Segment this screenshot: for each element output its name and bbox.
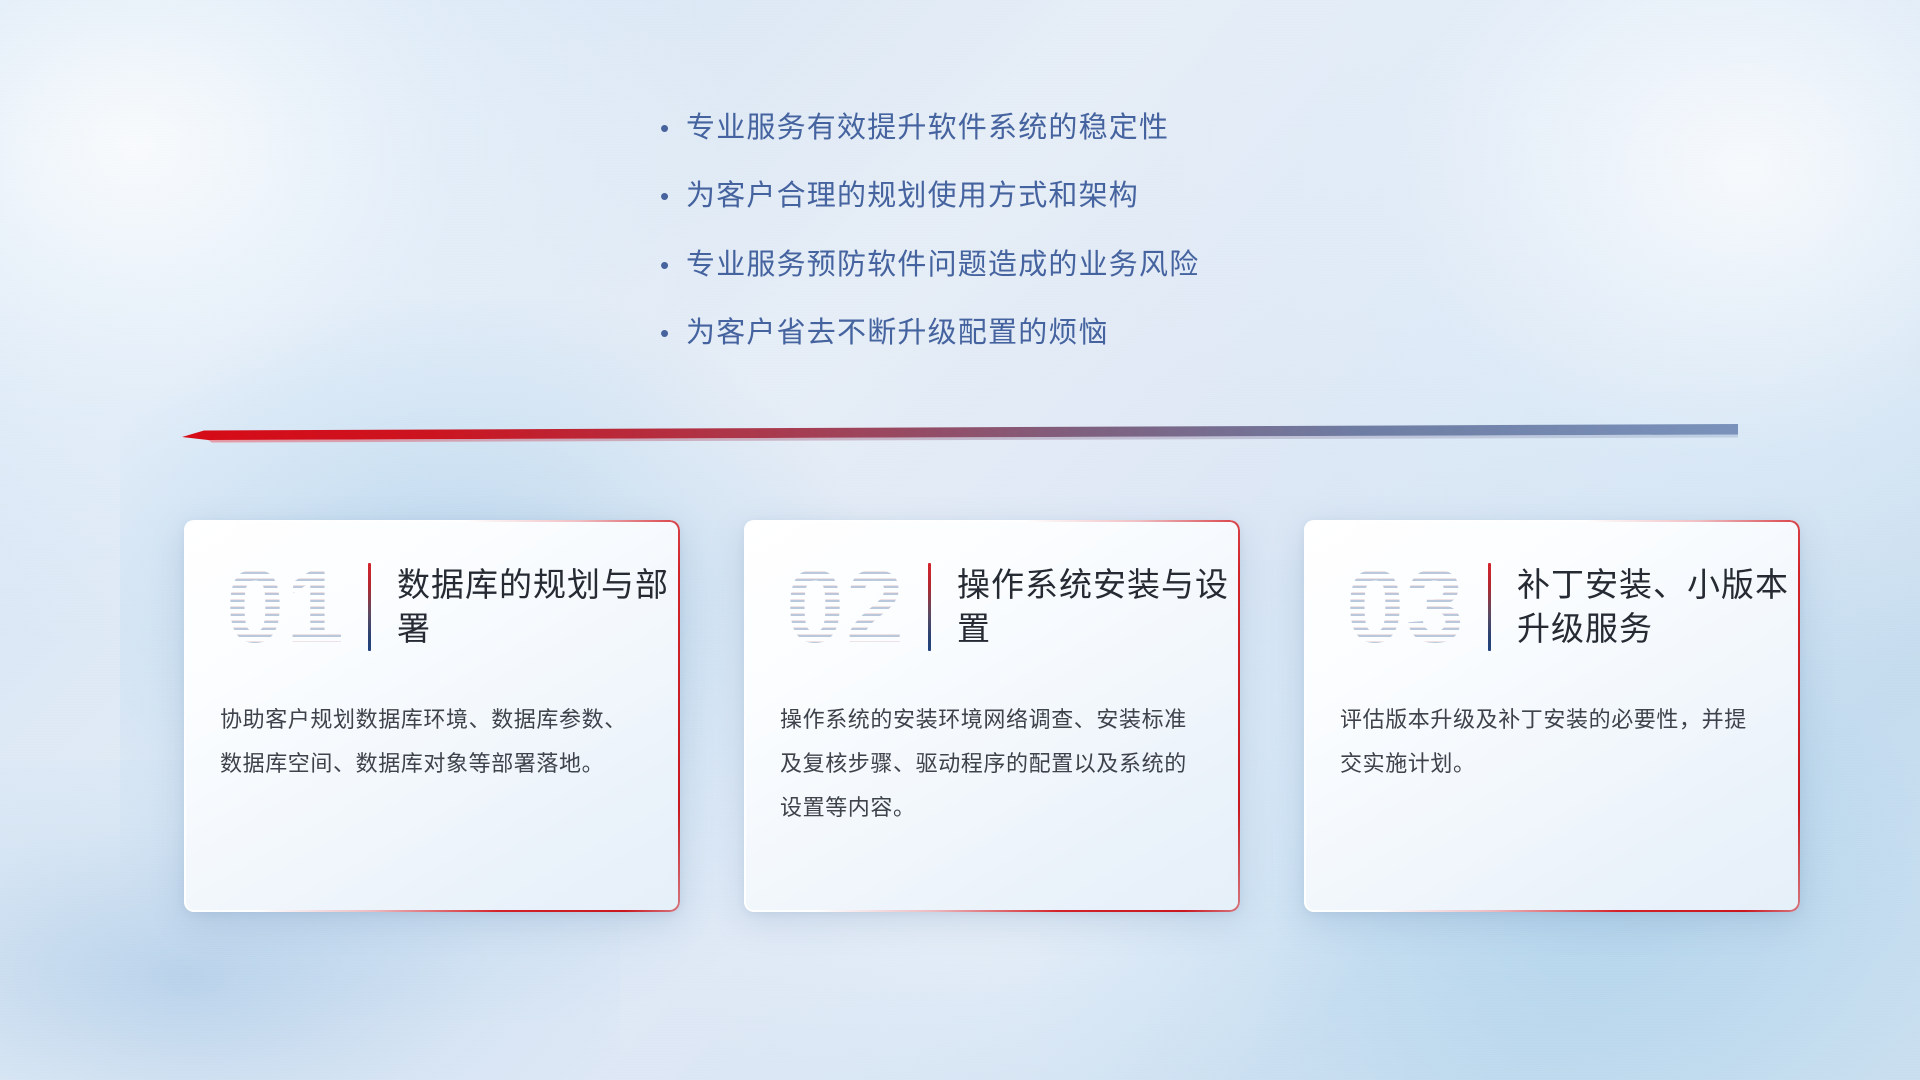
list-item: • 专业服务预防软件问题造成的业务风险: [660, 247, 1420, 283]
card-number-03: 03: [1330, 547, 1482, 667]
service-card-02[interactable]: 02 操作系统安装与设置 操作系统的安装环境网络调查、安装标准及复核步骤、驱动程…: [744, 520, 1240, 912]
list-item: • 为客户合理的规划使用方式和架构: [660, 178, 1420, 214]
card-title: 数据库的规划与部署: [397, 563, 680, 651]
service-card-03[interactable]: 03 补丁安装、小版本升级服务 评估版本升级及补丁安装的必要性，并提交实施计划。: [1304, 520, 1800, 912]
card-divider-bar: [368, 563, 371, 651]
bullet-text: 专业服务有效提升软件系统的稳定性: [686, 110, 1169, 146]
card-header: 02 操作系统安装与设置: [744, 520, 1240, 694]
service-card-list: 01 数据库的规划与部署 协助客户规划数据库环境、数据库参数、数据库空间、数据库…: [184, 520, 1800, 920]
card-number-02: 02: [770, 547, 922, 667]
accent-divider-line: [182, 424, 1738, 446]
list-item: • 专业服务有效提升软件系统的稳定性: [660, 110, 1420, 146]
card-description: 评估版本升级及补丁安装的必要性，并提交实施计划。: [1304, 694, 1800, 786]
card-description: 协助客户规划数据库环境、数据库参数、数据库空间、数据库对象等部署落地。: [184, 694, 680, 786]
bullet-marker-icon: •: [660, 115, 686, 141]
bullet-text: 为客户合理的规划使用方式和架构: [686, 178, 1139, 214]
bullet-marker-icon: •: [660, 183, 686, 209]
bullet-text: 为客户省去不断升级配置的烦恼: [686, 315, 1109, 351]
slide-canvas: • 专业服务有效提升软件系统的稳定性 • 为客户合理的规划使用方式和架构 • 专…: [0, 0, 1920, 1080]
list-item: • 为客户省去不断升级配置的烦恼: [660, 315, 1420, 351]
card-divider-bar: [928, 563, 931, 651]
service-card-01[interactable]: 01 数据库的规划与部署 协助客户规划数据库环境、数据库参数、数据库空间、数据库…: [184, 520, 680, 912]
bullet-marker-icon: •: [660, 320, 686, 346]
card-title: 补丁安装、小版本升级服务: [1517, 563, 1800, 651]
card-description: 操作系统的安装环境网络调查、安装标准及复核步骤、驱动程序的配置以及系统的设置等内…: [744, 694, 1240, 830]
card-header: 01 数据库的规划与部署: [184, 520, 680, 694]
card-header: 03 补丁安装、小版本升级服务: [1304, 520, 1800, 694]
benefits-bullet-list: • 专业服务有效提升软件系统的稳定性 • 为客户合理的规划使用方式和架构 • 专…: [660, 110, 1420, 383]
card-number-01: 01: [210, 547, 362, 667]
card-title: 操作系统安装与设置: [957, 563, 1240, 651]
bullet-marker-icon: •: [660, 252, 686, 278]
bullet-text: 专业服务预防软件问题造成的业务风险: [686, 247, 1199, 283]
card-divider-bar: [1488, 563, 1491, 651]
